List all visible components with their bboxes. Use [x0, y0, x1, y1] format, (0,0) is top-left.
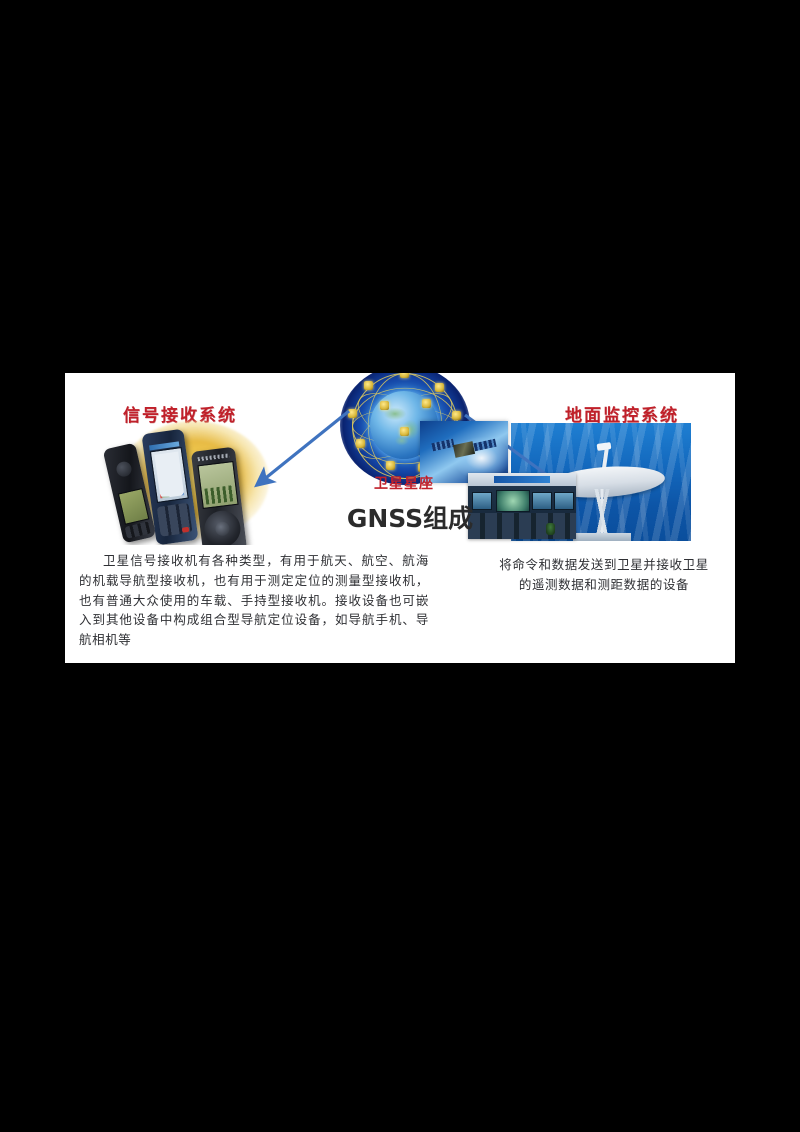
satellite-node [364, 381, 373, 390]
signal-bars-graphic [204, 485, 234, 504]
dpad-icon [115, 460, 133, 478]
room-banner [494, 476, 550, 483]
satellite-body [453, 441, 475, 458]
device-round-keypad [202, 509, 242, 545]
dish-base [573, 533, 631, 541]
arrow-to-receivers-icon [245, 405, 355, 495]
satellite-node [422, 399, 431, 408]
slide-panel: 信号接收系统 地面监控系统 [65, 373, 735, 663]
device-screen [197, 461, 238, 509]
left-caption-text: 卫星信号接收机有各种类型，有用于航天、航空、航海的机载导航型接收机，也有用于测定… [79, 551, 429, 650]
gnss-composition-heading: GNSS组成 [335, 499, 485, 535]
device-screen [118, 488, 150, 525]
satellite-node [386, 461, 395, 470]
device-screen [150, 447, 189, 503]
dish-mount-structure [581, 489, 623, 535]
satellite-node [356, 439, 365, 448]
satellite-node [435, 383, 444, 392]
solar-panel-right [473, 439, 496, 451]
satellite-node [380, 401, 389, 410]
right-caption-text: 将命令和数据发送到卫星并接收卫星的遥测数据和测距数据的设备 [495, 555, 713, 595]
center-section-label: 卫星星座 [349, 473, 459, 493]
main-display-screen [496, 490, 530, 512]
device-brand-text [198, 453, 230, 461]
wall-monitor [554, 492, 574, 510]
map-display [154, 452, 184, 499]
satellite-node [400, 427, 409, 436]
solar-panel-left [431, 439, 454, 451]
satellite-node [400, 373, 409, 378]
potted-plant [546, 523, 555, 535]
wall-monitor [532, 492, 552, 510]
